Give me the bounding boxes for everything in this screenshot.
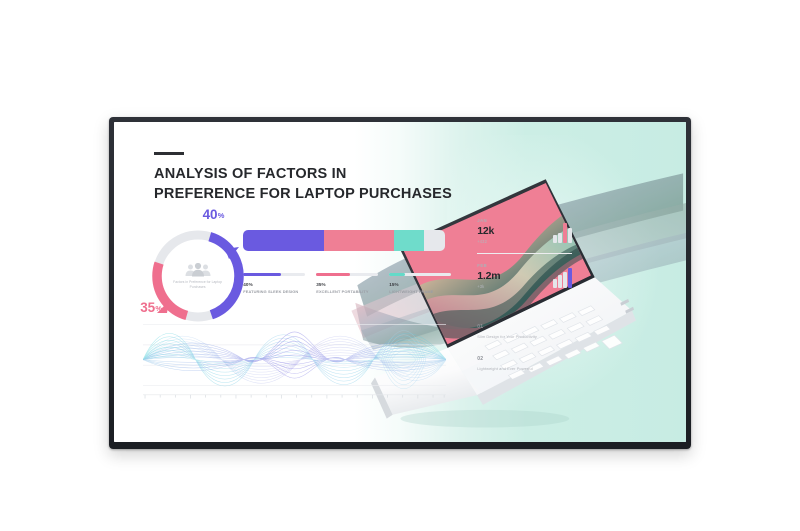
stacked-bar-segment-lightweight [394,230,424,251]
legend-fill [389,273,405,276]
mini-bar-highlight [563,223,566,243]
stat-mini-bar-chart-feb [553,268,571,288]
percent-sign-major: % [218,211,224,220]
note-number: 01 [477,324,574,330]
percent-sign-minor: % [155,304,161,313]
legend-item-portability: 35% EXCELLENT PORTABILITY [316,273,377,295]
mini-bar [568,228,571,243]
mini-bar [563,272,566,288]
legend-item-sleek-design: 40% FEATURING SLEEK DESIGN [243,273,304,295]
mini-bar [553,279,556,288]
donut-label-major: 40% [203,207,225,222]
mini-bar [553,235,556,243]
legend-fill [243,273,281,276]
stacked-bar-segment-sleek-design [243,230,324,251]
note-item-02: 02 Lightweight and Ever Powerful [477,356,574,372]
stacked-bar-segment-portability [324,230,394,251]
legend-label: EXCELLENT PORTABILITY [316,289,377,295]
legend-item-lightweight-frame: 15% LIGHTWEIGHT FRAME [389,273,450,295]
donut-chart: Factors in Preference for Laptop Purchas… [143,221,253,331]
legend-percent: 35% [316,282,377,287]
legend-track [389,273,450,276]
stat-row-jan: JAN 12k +432 [477,218,571,253]
monitor-screen: ANALYSIS OF FACTORS IN PREFERENCE FOR LA… [114,122,686,442]
monitor-device: ANALYSIS OF FACTORS IN PREFERENCE FOR LA… [109,117,691,449]
screenshot-canvas: ANALYSIS OF FACTORS IN PREFERENCE FOR LA… [0,0,800,531]
note-item-01: 01 Slim Design for Your Productivity [477,324,574,340]
legend-label: FEATURING SLEEK DESIGN [243,289,304,295]
mini-bar [558,275,561,288]
monthly-stats-panel: JAN 12k +432 FEB 1.2m +3k [477,218,571,298]
legend-track [243,273,304,276]
legend-track [316,273,377,276]
note-number: 02 [477,356,574,362]
slide-title-block: ANALYSIS OF FACTORS IN PREFERENCE FOR LA… [154,152,509,205]
title-accent-rule [154,152,184,155]
waveform-ticks [145,395,444,399]
waveform-chart [143,319,446,402]
legend-percent: 40% [243,282,304,287]
mini-bar [558,233,561,243]
stacked-bar-track [243,230,444,251]
page-title-line-2: PREFERENCE FOR LAPTOP PURCHASES [154,184,509,205]
note-text: Slim Design for Your Productivity [477,334,574,340]
stat-row-feb: FEB 1.2m +3k [477,253,571,298]
people-group-icon [185,263,211,277]
legend-fill [316,273,350,276]
numbered-notes-list: 01 Slim Design for Your Productivity 02 … [477,324,574,389]
donut-caption: Factors in Preference for Laptop Purchas… [166,280,230,290]
legend-label: LIGHTWEIGHT FRAME [389,289,450,295]
waveform-chart-svg [143,319,446,402]
stat-mini-bar-chart-jan [553,223,571,243]
legend-percent: 15% [389,282,450,287]
page-title-line-1: ANALYSIS OF FACTORS IN [154,164,509,185]
note-text: Lightweight and Ever Powerful [477,366,574,372]
presentation-slide: ANALYSIS OF FACTORS IN PREFERENCE FOR LA… [114,122,686,442]
chart-legend: 40% FEATURING SLEEK DESIGN 35% EXCELLENT… [243,273,455,295]
donut-label-minor: 35% [140,300,162,315]
mini-bar-highlight [568,268,571,288]
stacked-bar-segment-other [424,230,444,251]
donut-center-content: Factors in Preference for Laptop Purchas… [143,221,253,331]
stacked-bar-chart [243,230,444,251]
